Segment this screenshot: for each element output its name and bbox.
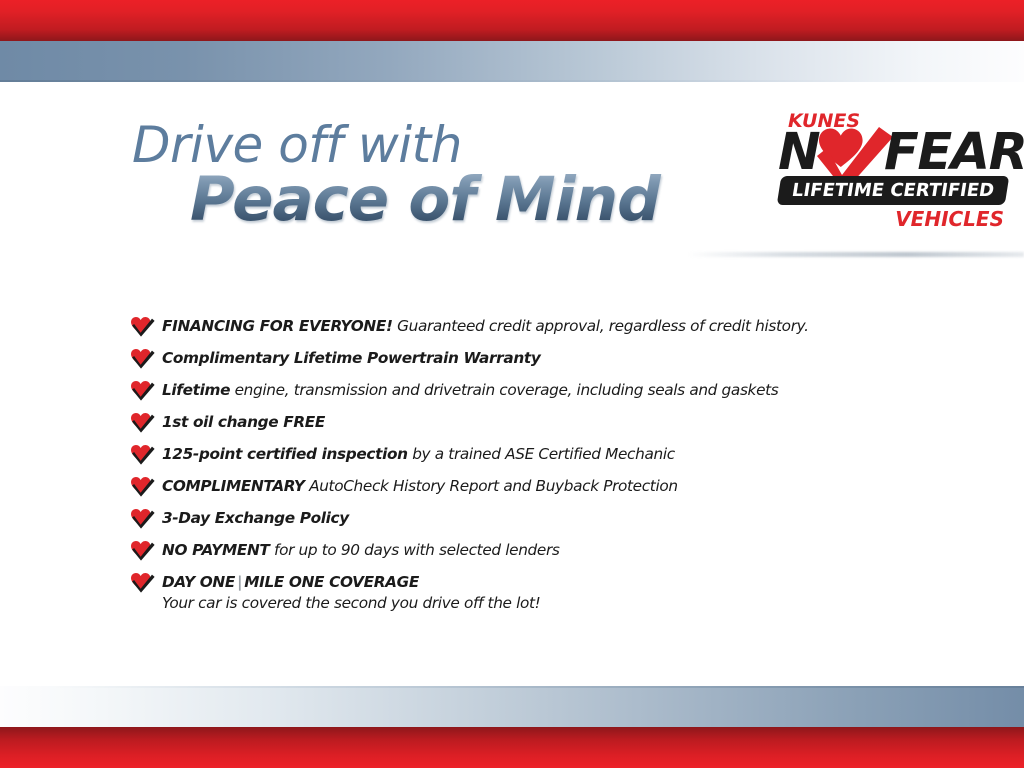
list-item-bold: Lifetime bbox=[162, 381, 230, 399]
list-item-bold: 125-point certified inspection bbox=[162, 445, 408, 463]
list-item-bold: COMPLIMENTARY bbox=[162, 477, 305, 495]
heart-check-bullet-icon bbox=[130, 476, 155, 497]
list-item-text: 125-point certified inspection by a trai… bbox=[162, 445, 675, 463]
list-item-bold-2: MILE ONE COVERAGE bbox=[244, 573, 419, 591]
list-item-bold: NO PAYMENT bbox=[162, 541, 270, 559]
logo-lifetime-certified-banner: LIFETIME CERTIFIED bbox=[777, 176, 1010, 205]
list-item-normal: Guaranteed credit approval, regardless o… bbox=[393, 317, 809, 335]
list-item: 1st oil change FREE bbox=[130, 406, 970, 438]
list-item: 3-Day Exchange Policy bbox=[130, 502, 970, 534]
list-item: NO PAYMENT for up to 90 days with select… bbox=[130, 534, 970, 566]
feature-list: FINANCING FOR EVERYONE! Guaranteed credi… bbox=[130, 310, 970, 614]
heart-check-bullet-icon bbox=[130, 412, 155, 433]
bottom-red-band bbox=[0, 727, 1024, 768]
heart-check-bullet-icon bbox=[130, 348, 155, 369]
heart-check-bullet-icon bbox=[130, 444, 155, 465]
heart-check-bullet-icon bbox=[130, 508, 155, 529]
list-item-text: NO PAYMENT for up to 90 days with select… bbox=[162, 541, 560, 559]
heart-check-bullet-icon bbox=[130, 540, 155, 561]
list-item-bold: FINANCING FOR EVERYONE! bbox=[162, 317, 393, 335]
list-item: DAY ONE|MILE ONE COVERAGE bbox=[130, 566, 970, 598]
list-item: FINANCING FOR EVERYONE! Guaranteed credi… bbox=[130, 310, 970, 342]
list-item-bold: DAY ONE bbox=[162, 573, 235, 591]
logo-word-vehicles: VEHICLES bbox=[895, 207, 1004, 231]
heart-check-bullet-icon bbox=[130, 380, 155, 401]
list-item-text: DAY ONE|MILE ONE COVERAGE bbox=[162, 573, 419, 591]
list-item: COMPLIMENTARY AutoCheck History Report a… bbox=[130, 470, 970, 502]
list-item-bold: 3-Day Exchange Policy bbox=[162, 509, 349, 527]
list-item-text: FINANCING FOR EVERYONE! Guaranteed credi… bbox=[162, 317, 809, 335]
heart-check-bullet-icon bbox=[130, 316, 155, 337]
list-item-text: 1st oil change FREE bbox=[162, 413, 325, 431]
list-item-normal: by a trained ASE Certified Mechanic bbox=[408, 445, 675, 463]
logo-no-fear-wordmark: N FEAR bbox=[776, 127, 1012, 179]
list-item-normal: engine, transmission and drivetrain cove… bbox=[230, 381, 778, 399]
list-item-text: COMPLIMENTARY AutoCheck History Report a… bbox=[162, 477, 678, 495]
list-item-bold: 1st oil change FREE bbox=[162, 413, 325, 431]
list-item-bold: Complimentary Lifetime Powertrain Warran… bbox=[162, 349, 540, 367]
logo-word-fear: FEAR bbox=[884, 127, 1024, 178]
headline-block: Drive off with Peace of Mind bbox=[132, 118, 732, 232]
top-red-band bbox=[0, 0, 1024, 41]
heart-check-bullet-icon bbox=[130, 572, 155, 593]
list-item-text: Lifetime engine, transmission and drivet… bbox=[162, 381, 778, 399]
logo-divider-shadow bbox=[688, 252, 1024, 257]
headline-line-2: Peace of Mind bbox=[190, 168, 732, 232]
list-item-text: 3-Day Exchange Policy bbox=[162, 509, 349, 527]
advertisement-page: Drive off with Peace of Mind KUNES N FEA… bbox=[0, 0, 1024, 768]
list-item: Lifetime engine, transmission and drivet… bbox=[130, 374, 970, 406]
list-item-normal: for up to 90 days with selected lenders bbox=[270, 541, 560, 559]
logo-lifetime-certified-text: LIFETIME CERTIFIED bbox=[777, 176, 1010, 205]
list-item: Complimentary Lifetime Powertrain Warran… bbox=[130, 342, 970, 374]
list-item-text: Complimentary Lifetime Powertrain Warran… bbox=[162, 349, 540, 367]
list-item: 125-point certified inspection by a trai… bbox=[130, 438, 970, 470]
kunes-no-fear-logo: KUNES N FEAR LIFETIME CERTIFIED VEHICLES bbox=[776, 110, 1012, 242]
top-gray-band bbox=[0, 41, 1024, 82]
list-item-separator: | bbox=[235, 573, 244, 591]
list-item-normal: AutoCheck History Report and Buyback Pro… bbox=[305, 477, 678, 495]
bottom-gray-band bbox=[0, 686, 1024, 727]
